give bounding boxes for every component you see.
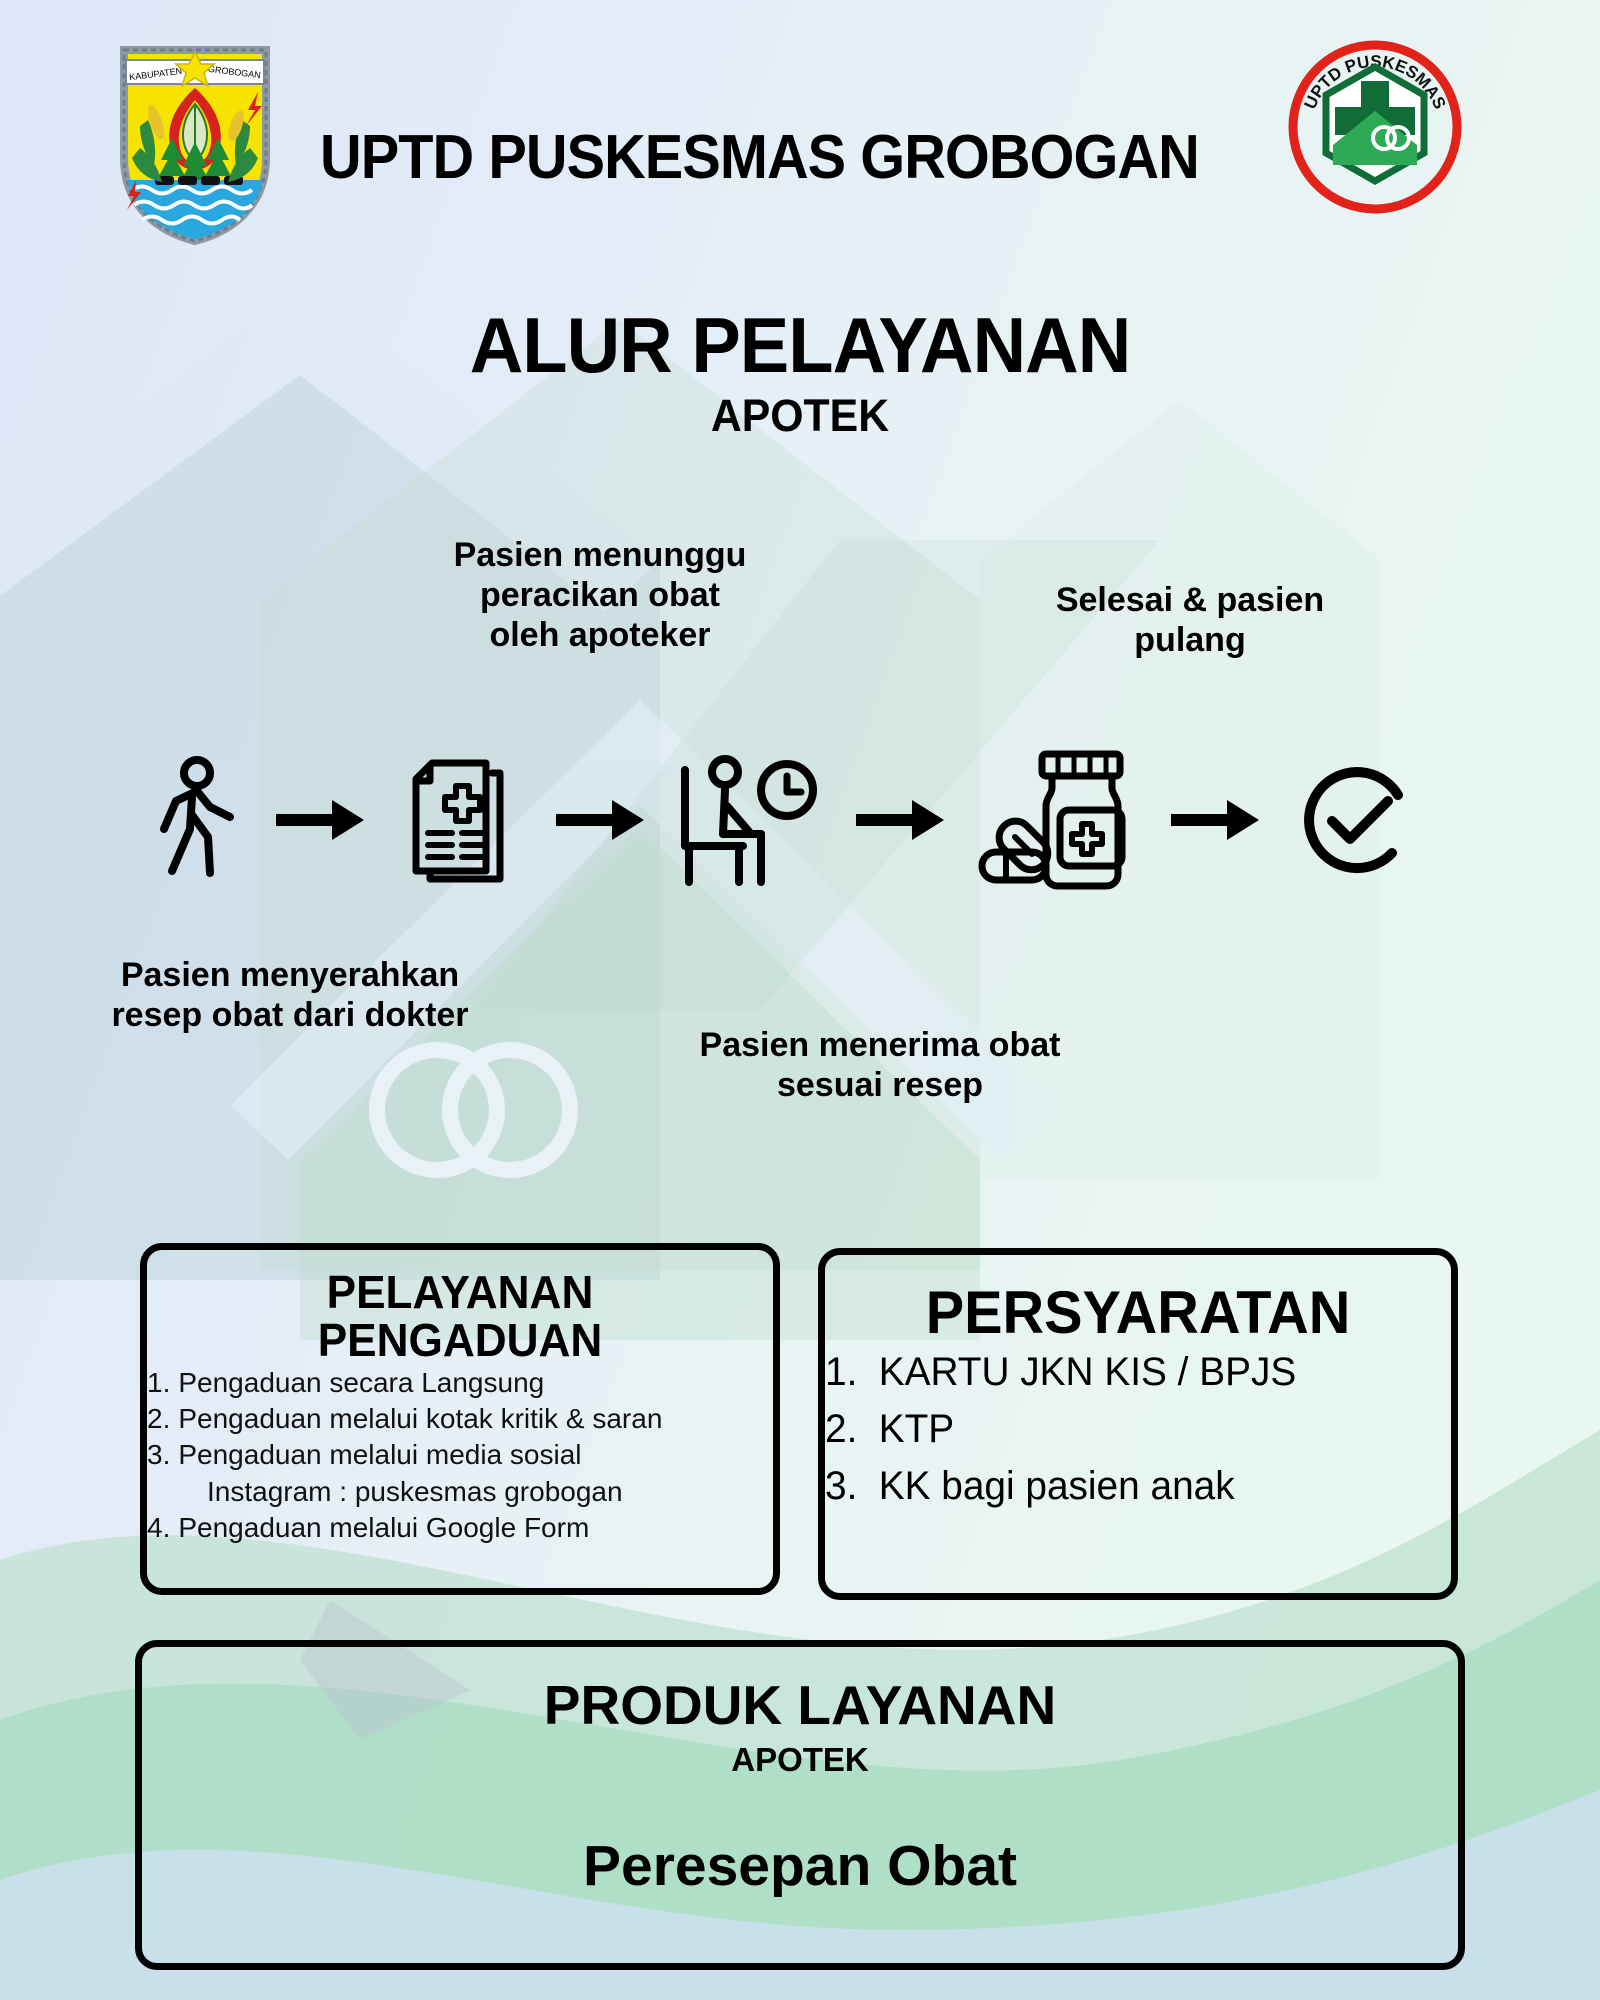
flow-label-step2-line3: oleh apoteker <box>400 615 800 655</box>
produk-layanan-box: PRODUK LAYANAN APOTEK Peresepan Obat <box>135 1640 1465 1970</box>
pengaduan-title: PELAYANAN PENGADUAN <box>160 1250 761 1365</box>
flow-label-step1: Pasien menyerahkan resep obat dari dokte… <box>90 955 490 1035</box>
list-item-label: KTP <box>879 1401 954 1458</box>
medicine-bottle-capsule-icon <box>960 745 1140 895</box>
persyaratan-list: 1. KARTU JKN KIS / BPJS 2. KTP 3. KK bag… <box>825 1344 1451 1514</box>
pengaduan-instagram-line: Instagram : puskesmas grobogan <box>147 1474 773 1510</box>
flow-label-step4-line1: Selesai & pasien <box>1000 580 1380 620</box>
list-item-label: KARTU JKN KIS / BPJS <box>879 1344 1297 1401</box>
flow-label-step2-line2: peracikan obat <box>400 575 800 615</box>
page-header: KABUPATEN GROBOGAN <box>0 0 1600 265</box>
list-item-number: 2. <box>147 1401 170 1437</box>
arrow-right-icon <box>845 745 955 895</box>
page-title: UPTD PUSKESMAS GROBOGAN <box>320 122 1157 193</box>
list-item: 3. KK bagi pasien anak <box>825 1458 1432 1515</box>
list-item-label: KK bagi pasien anak <box>879 1458 1235 1515</box>
arrow-right-icon <box>265 745 375 895</box>
persyaratan-title: PERSYARATAN <box>838 1255 1439 1344</box>
list-item: 1. KARTU JKN KIS / BPJS <box>825 1344 1432 1401</box>
list-item-number: 3. <box>825 1458 857 1515</box>
pengaduan-title-line1: PELAYANAN <box>160 1268 761 1316</box>
pengaduan-title-line2: PENGADUAN <box>160 1316 761 1364</box>
list-item-number: 1. <box>825 1344 857 1401</box>
list-item: 3. Pengaduan melalui media sosial <box>147 1437 773 1473</box>
flow-title: ALUR PELAYANAN <box>40 300 1560 391</box>
pengaduan-box: PELAYANAN PENGADUAN 1. Pengaduan secara … <box>140 1243 780 1595</box>
kabupaten-grobogan-crest-icon: KABUPATEN GROBOGAN <box>110 30 280 245</box>
uptd-puskesmas-grobogan-logo-icon: UPTD PUSKESMAS GROBOGAN <box>1285 35 1465 220</box>
arrow-right-icon <box>1160 745 1270 895</box>
produk-value: Peresepan Obat <box>142 1779 1458 1899</box>
persyaratan-box: PERSYARATAN 1. KARTU JKN KIS / BPJS 2. K… <box>818 1248 1458 1600</box>
flow-label-step3: Pasien menerima obat sesuai resep <box>680 1025 1080 1105</box>
list-item-number: 4. <box>147 1510 170 1546</box>
seated-person-clock-icon <box>655 745 835 895</box>
flow-subtitle: APOTEK <box>40 390 1560 442</box>
list-item-label: Pengaduan secara Langsung <box>178 1365 773 1401</box>
prescription-document-icon <box>385 745 535 895</box>
list-item-number: 3. <box>147 1437 170 1473</box>
list-item: 2. Pengaduan melalui kotak kritik & sara… <box>147 1401 773 1437</box>
list-item-label: Pengaduan melalui Google Form <box>178 1510 773 1546</box>
walking-person-icon <box>130 745 260 895</box>
list-item: 4. Pengaduan melalui Google Form <box>147 1510 773 1546</box>
arrow-right-icon <box>545 745 655 895</box>
produk-subtitle: APOTEK <box>142 1737 1458 1779</box>
check-circle-icon <box>1280 745 1430 895</box>
flow-label-step4-line2: pulang <box>1000 620 1380 660</box>
flow-label-step2: Pasien menunggu peracikan obat oleh apot… <box>400 535 800 655</box>
list-item-label: Pengaduan melalui media sosial <box>178 1437 773 1473</box>
service-flow-diagram <box>0 745 1600 905</box>
list-item-number: 1. <box>147 1365 170 1401</box>
flow-label-step2-line1: Pasien menunggu <box>400 535 800 575</box>
produk-title: PRODUK LAYANAN <box>142 1647 1458 1737</box>
list-item-number: 2. <box>825 1401 857 1458</box>
list-item: 1. Pengaduan secara Langsung <box>147 1365 773 1401</box>
flow-label-step4: Selesai & pasien pulang <box>1000 580 1380 660</box>
list-item: 2. KTP <box>825 1401 1432 1458</box>
pengaduan-list: 1. Pengaduan secara Langsung 2. Pengadua… <box>147 1365 773 1547</box>
list-item-label: Pengaduan melalui kotak kritik & saran <box>178 1401 773 1437</box>
